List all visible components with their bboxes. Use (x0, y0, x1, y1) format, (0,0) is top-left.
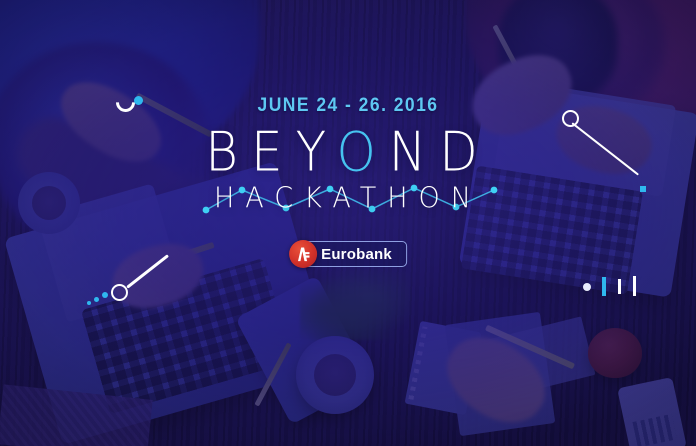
bar-mark-3 (633, 276, 636, 296)
poster-title: BEYOND (0, 122, 696, 182)
cyan-dot-left-2 (94, 297, 99, 302)
hackathon-poster: JUNE 24 - 26. 2016 BEYOND HACKATHON (0, 0, 696, 446)
bar-mark-1 (602, 277, 606, 296)
diagonal-line-left (126, 254, 169, 288)
poster-content: JUNE 24 - 26. 2016 BEYOND HACKATHON (0, 0, 696, 446)
poster-subtitle-group: HACKATHON (0, 182, 696, 216)
sponsor-logo[interactable]: Eurobank (289, 240, 407, 268)
cyan-dot-left-1 (102, 292, 108, 298)
cyan-square-right (640, 186, 646, 192)
bar-mark-dot (583, 283, 591, 291)
eurobank-lambda-icon (289, 240, 317, 268)
title-highlight-letter: O (336, 121, 388, 184)
title-part-before: BEY (205, 121, 336, 184)
poster-subtitle: HACKATHON (0, 181, 696, 217)
bar-mark-2 (618, 279, 621, 294)
title-part-after: ND (389, 121, 491, 184)
cyan-dot-left-3 (87, 301, 91, 305)
sponsor-name-plate: Eurobank (302, 241, 407, 267)
circle-outline-icon-left (111, 284, 128, 301)
sponsor-name: Eurobank (321, 246, 392, 263)
cyan-dot-top-left (134, 96, 143, 105)
